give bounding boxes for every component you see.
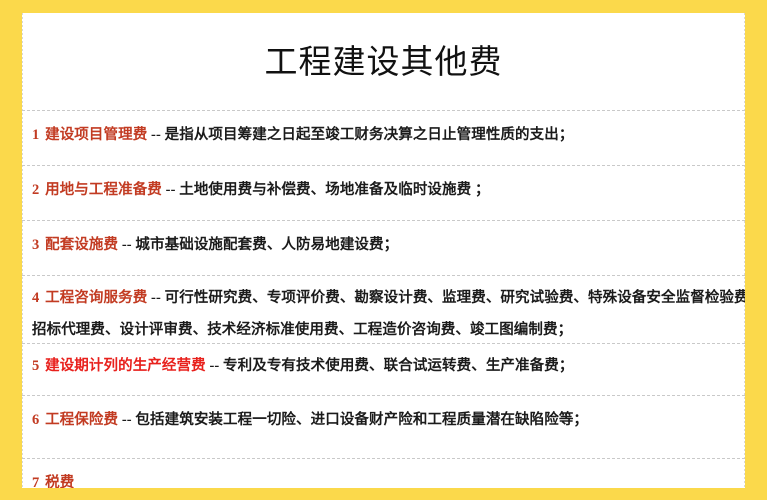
- content-row-6-description: 包括建筑安装工程一切险、进口设备财产险和工程质量潜在缺陷险等；: [135, 412, 588, 428]
- content-row-5: 5 建设期计列的生产经营费 -- 专利及专有技术使用费、联合试运转费、生产准备费…: [22, 343, 745, 395]
- content-row-2: 2 用地与工程准备费 -- 土地使用费与补偿费、场地准备及临时设施费 ；: [22, 165, 745, 220]
- content-row-3-line: 3 配套设施费 -- 城市基础设施配套费、人防易地建设费；: [32, 236, 737, 255]
- content-rows: 1 建设项目管理费 -- 是指从项目筹建之日起至竣工财务决算之日止管理性质的支出…: [22, 110, 745, 488]
- content-row-2-description: 土地使用费与补偿费、场地准备及临时设施费 ；: [179, 182, 489, 198]
- content-row-1-term: 建设项目管理费: [45, 127, 147, 143]
- content-row-1: 1 建设项目管理费 -- 是指从项目筹建之日起至竣工财务决算之日止管理性质的支出…: [22, 110, 745, 165]
- content-row-1-number: 1: [32, 127, 39, 143]
- content-row-6-line: 6 工程保险费 -- 包括建筑安装工程一切险、进口设备财产险和工程质量潜在缺陷险…: [32, 411, 737, 430]
- content-row-7-number: 7: [32, 475, 39, 488]
- content-row-4-line-1: 4 工程咨询服务费 -- 可行性研究费、专项评价费、勘察设计费、监理费、研究试验…: [32, 289, 737, 308]
- content-row-4-term: 工程咨询服务费: [45, 290, 147, 306]
- content-row-7-term: 税费: [45, 475, 74, 488]
- content-row-5-term: 建设期计列的生产经营费: [45, 358, 206, 374]
- content-row-3: 3 配套设施费 -- 城市基础设施配套费、人防易地建设费；: [22, 220, 745, 275]
- content-row-4: 4 工程咨询服务费 -- 可行性研究费、专项评价费、勘察设计费、监理费、研究试验…: [22, 275, 745, 343]
- content-row-1-line: 1 建设项目管理费 -- 是指从项目筹建之日起至竣工财务决算之日止管理性质的支出…: [32, 126, 737, 145]
- content-row-4-description-2: 招标代理费、设计评审费、技术经济标准使用费、工程造价咨询费、竣工图编制费；: [32, 322, 572, 338]
- content-row-5-number: 5: [32, 358, 39, 374]
- content-row-5-separator: --: [209, 358, 219, 374]
- content-row-3-separator: --: [122, 237, 132, 253]
- content-row-4-separator: --: [151, 290, 161, 306]
- content-row-1-separator: --: [151, 127, 161, 143]
- content-row-4-line-2: 招标代理费、设计评审费、技术经济标准使用费、工程造价咨询费、竣工图编制费；: [32, 321, 737, 340]
- content-row-4-description: 可行性研究费、专项评价费、勘察设计费、监理费、研究试验费、特殊设备安全监督检验费…: [165, 290, 745, 306]
- content-row-6-term: 工程保险费: [45, 412, 118, 428]
- content-row-2-number: 2: [32, 182, 39, 198]
- content-row-7-line: 7 税费: [32, 474, 737, 488]
- content-row-6: 6 工程保险费 -- 包括建筑安装工程一切险、进口设备财产险和工程质量潜在缺陷险…: [22, 395, 745, 458]
- content-row-3-term: 配套设施费: [45, 237, 118, 253]
- content-row-2-line: 2 用地与工程准备费 -- 土地使用费与补偿费、场地准备及临时设施费 ；: [32, 181, 737, 200]
- content-row-6-separator: --: [122, 412, 132, 428]
- content-row-5-line: 5 建设期计列的生产经营费 -- 专利及专有技术使用费、联合试运转费、生产准备费…: [32, 357, 737, 376]
- content-row-3-number: 3: [32, 237, 39, 253]
- content-row-2-term: 用地与工程准备费: [45, 182, 162, 198]
- title-block: 工程建设其他费: [22, 13, 745, 110]
- content-row-2-separator: --: [166, 182, 176, 198]
- content-row-1-description: 是指从项目筹建之日起至竣工财务决算之日止管理性质的支出；: [165, 127, 574, 143]
- content-row-6-number: 6: [32, 412, 39, 428]
- slide-canvas: 工程建设其他费 1 建设项目管理费 -- 是指从项目筹建之日起至竣工财务决算之日…: [0, 0, 767, 500]
- content-row-5-description: 专利及专有技术使用费、联合试运转费、生产准备费；: [223, 358, 573, 374]
- content-row-3-description: 城市基础设施配套费、人防易地建设费；: [135, 237, 398, 253]
- page-title: 工程建设其他费: [265, 43, 503, 81]
- content-row-7: 7 税费: [22, 458, 745, 488]
- slide-page: 工程建设其他费 1 建设项目管理费 -- 是指从项目筹建之日起至竣工财务决算之日…: [22, 13, 745, 488]
- content-row-4-number: 4: [32, 290, 39, 306]
